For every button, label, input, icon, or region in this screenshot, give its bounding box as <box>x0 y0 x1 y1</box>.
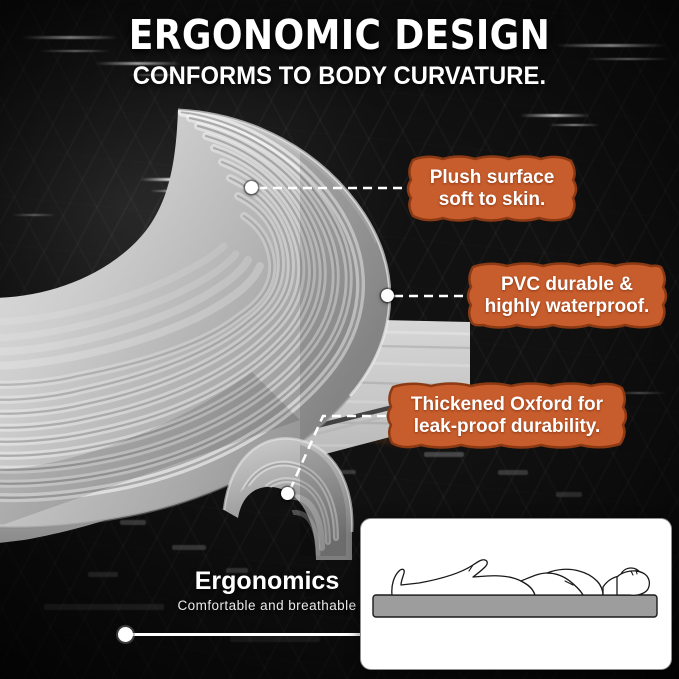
person-lying-on-mattress-icon <box>361 519 669 667</box>
marker-dot-oxford-leakproof[interactable] <box>281 487 294 500</box>
marker-dot-plush-surface[interactable] <box>245 181 258 194</box>
callout-plush-surface[interactable]: Plush surface soft to skin. <box>403 156 581 222</box>
headline-block: ERGONOMIC DESIGN CONFORMS TO BODY CURVAT… <box>0 14 679 91</box>
marker-dot-pvc-waterproof[interactable] <box>381 289 394 302</box>
bottom-feature-label: Ergonomics Comfortable and breathable <box>152 567 382 613</box>
bottom-label-title: Ergonomics <box>152 567 382 596</box>
callout-pvc-waterproof[interactable]: PVC durable & highly waterproof. <box>463 263 671 329</box>
page-subtitle: CONFORMS TO BODY CURVATURE. <box>17 62 662 91</box>
bottom-connector-dot[interactable] <box>118 627 133 642</box>
product-curved-backrest <box>0 100 410 530</box>
page-title: ERGONOMIC DESIGN <box>41 14 639 57</box>
product-marketing-image: ERGONOMIC DESIGN CONFORMS TO BODY CURVAT… <box>0 0 679 679</box>
bottom-label-subtitle: Comfortable and breathable <box>152 598 382 613</box>
inset-diagram-panel <box>360 518 672 670</box>
callout-oxford-leakproof[interactable]: Thickened Oxford for leak-proof durabili… <box>383 383 631 449</box>
